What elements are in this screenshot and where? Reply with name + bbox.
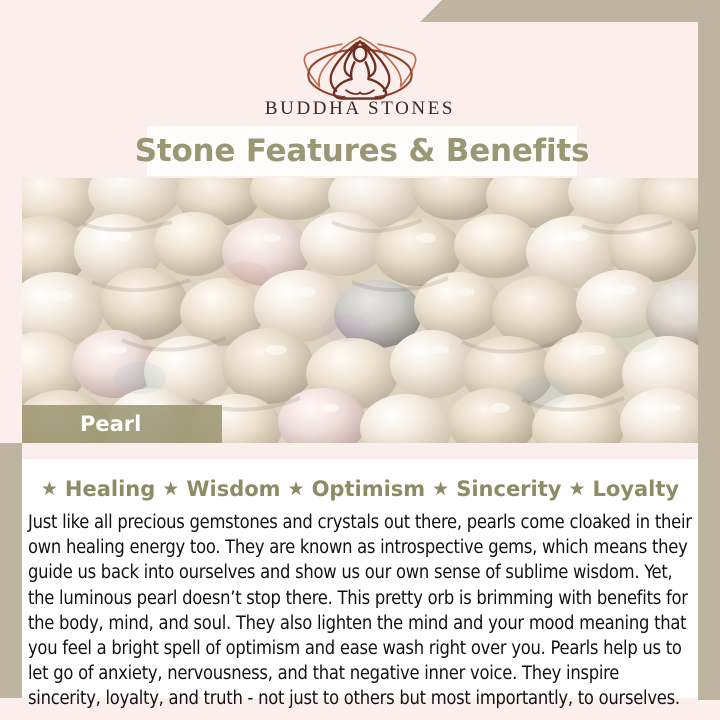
section-title-banner: Stone Features & Benefits	[148, 127, 576, 175]
keyword-label: Healing	[65, 477, 155, 501]
decorative-band-top	[420, 0, 720, 22]
stone-name: Pearl	[22, 412, 141, 436]
pearl-photo	[22, 178, 698, 443]
brand-name: BUDDHA STONES	[22, 98, 698, 120]
keyword-list: ★ Healing ★ Wisdom ★ Optimism ★ Sincerit…	[22, 477, 698, 501]
keyword-optimism: ★ Optimism	[281, 477, 426, 501]
keyword-loyalty: ★ Loyalty	[561, 477, 679, 501]
description-text: Just like all precious gemstones and cry…	[28, 510, 692, 712]
star-icon: ★	[41, 480, 58, 499]
star-icon: ★	[288, 480, 305, 499]
stone-name-bar: Pearl	[22, 405, 222, 443]
keyword-wisdom: ★ Wisdom	[155, 477, 280, 501]
keyword-sincerity: ★ Sincerity	[425, 477, 561, 501]
keyword-label: Wisdom	[186, 477, 280, 501]
decorative-band-right	[698, 0, 720, 700]
benefits-panel: ★ Healing ★ Wisdom ★ Optimism ★ Sincerit…	[22, 443, 698, 698]
keyword-label: Optimism	[312, 477, 426, 501]
keyword-healing: ★ Healing	[41, 477, 155, 501]
pearl-cluster-illustration	[22, 178, 698, 443]
panel-top-strip	[22, 443, 698, 459]
poster-card: BUDDHA STONES Stone Features & Benefits	[22, 22, 698, 698]
star-icon: ★	[432, 480, 449, 499]
star-icon: ★	[568, 480, 585, 499]
keyword-label: Sincerity	[456, 477, 561, 501]
decorative-band-left	[0, 443, 22, 698]
keyword-label: Loyalty	[593, 477, 680, 501]
page-title: Stone Features & Benefits	[135, 133, 590, 169]
stone-features-poster: BUDDHA STONES Stone Features & Benefits	[0, 0, 720, 720]
star-icon: ★	[162, 480, 179, 499]
lotus-meditation-icon	[290, 26, 430, 100]
